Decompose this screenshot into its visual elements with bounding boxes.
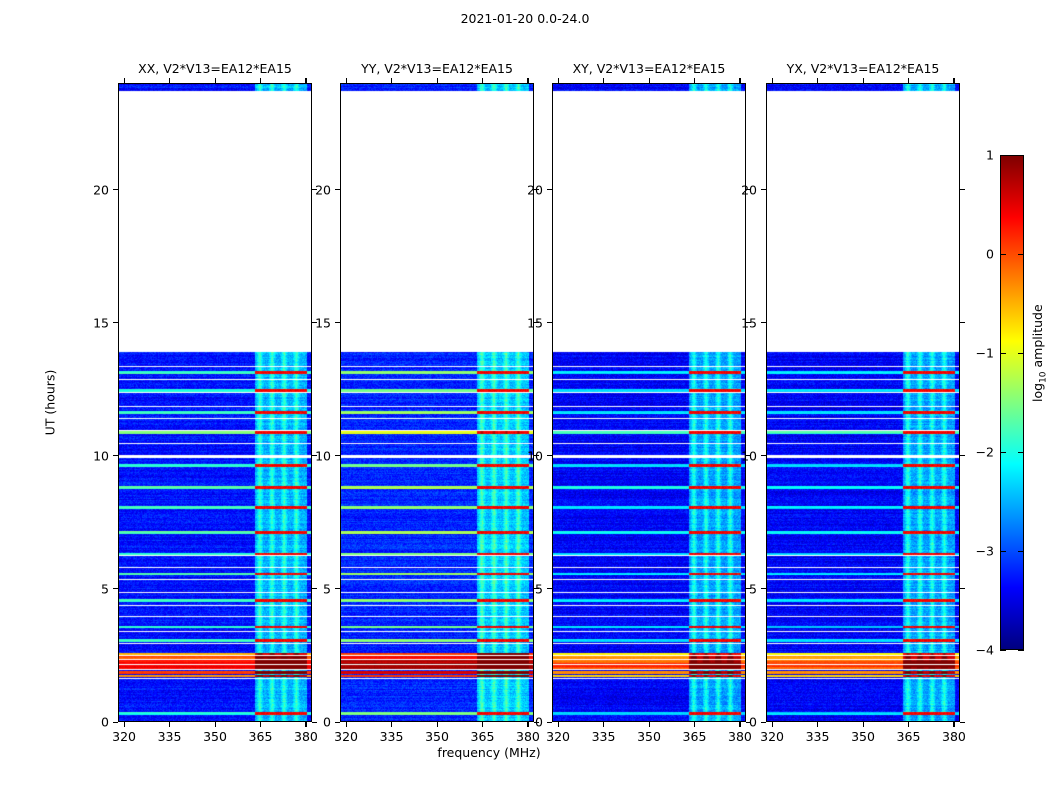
y-axis-tick-label: 20 <box>0 182 757 197</box>
x-axis-tick-label: 320 <box>334 729 358 744</box>
x-axis-tick <box>391 78 392 83</box>
x-axis-tick <box>817 722 818 727</box>
x-axis-tick <box>908 722 909 727</box>
x-axis-tick-label: 380 <box>294 729 318 744</box>
colorbar-tick-label: −4 <box>0 643 994 658</box>
colorbar-tick <box>1000 452 1006 453</box>
colorbar-tick <box>1018 650 1024 651</box>
x-axis-tick-label: 335 <box>380 729 404 744</box>
x-axis-tick-label: 365 <box>897 729 921 744</box>
x-axis-tick-label: 320 <box>546 729 570 744</box>
waterfall-image-xy <box>553 84 746 722</box>
y-axis-tick <box>960 722 965 723</box>
x-axis-label: frequency (MHz) <box>437 745 540 760</box>
colorbar-tick <box>1018 254 1024 255</box>
x-axis-tick-label: 350 <box>425 729 449 744</box>
colorbar-tick <box>1018 551 1024 552</box>
waterfall-image-yy <box>341 84 534 722</box>
x-axis-tick <box>772 722 773 727</box>
colorbar-tick <box>1000 254 1006 255</box>
x-axis-tick <box>649 78 650 83</box>
colorbar-tick-label: 1 <box>0 148 994 163</box>
y-axis-tick-label: 0 <box>0 715 757 730</box>
x-axis-tick-label: 365 <box>471 729 495 744</box>
x-axis-tick-label: 350 <box>851 729 875 744</box>
x-axis-tick <box>694 78 695 83</box>
y-axis-tick <box>960 189 965 190</box>
x-axis-tick <box>739 78 740 83</box>
y-axis-tick <box>761 588 766 589</box>
colorbar-tick-label: −2 <box>0 445 994 460</box>
spectrogram-panel-xx[interactable] <box>118 83 312 722</box>
colorbar-tick-label: −3 <box>0 544 994 559</box>
waterfall-image-yx <box>767 84 960 722</box>
y-axis-tick-label: 15 <box>0 315 757 330</box>
y-axis-tick <box>960 588 965 589</box>
colorbar-tick <box>1018 155 1024 156</box>
y-axis-tick <box>761 322 766 323</box>
x-axis-tick <box>482 78 483 83</box>
colorbar-tick <box>1000 353 1006 354</box>
x-axis-tick <box>603 78 604 83</box>
spectrogram-panel-yx[interactable] <box>766 83 960 722</box>
x-axis-tick <box>863 722 864 727</box>
x-axis-tick-label: 380 <box>942 729 966 744</box>
x-axis-tick-label: 335 <box>592 729 616 744</box>
x-axis-tick-label: 365 <box>249 729 273 744</box>
x-axis-tick <box>817 78 818 83</box>
colorbar-tick <box>1018 353 1024 354</box>
x-axis-tick <box>169 78 170 83</box>
x-axis-tick-label: 350 <box>637 729 661 744</box>
x-axis-tick <box>215 78 216 83</box>
x-axis-tick-label: 335 <box>158 729 182 744</box>
x-axis-tick <box>558 78 559 83</box>
spectrogram-panel-yy[interactable] <box>340 83 534 722</box>
colorbar-tick-label: −1 <box>0 346 994 361</box>
colorbar-label-prefix: log <box>1030 383 1045 402</box>
x-axis-tick-label: 335 <box>806 729 830 744</box>
y-axis-tick-label: 5 <box>0 581 757 596</box>
x-axis-tick <box>953 78 954 83</box>
colorbar[interactable] <box>1000 155 1024 650</box>
x-axis-tick <box>346 78 347 83</box>
x-axis-tick <box>908 78 909 83</box>
y-axis-tick <box>761 189 766 190</box>
x-axis-tick <box>772 78 773 83</box>
x-axis-tick-label: 320 <box>112 729 136 744</box>
x-axis-tick <box>863 78 864 83</box>
x-axis-tick <box>260 78 261 83</box>
waterfall-image-xx <box>119 84 312 722</box>
x-axis-tick <box>124 78 125 83</box>
x-axis-tick-label: 350 <box>203 729 227 744</box>
x-axis-tick-label: 380 <box>516 729 540 744</box>
colorbar-tick <box>1000 155 1006 156</box>
colorbar-tick-label: 0 <box>0 247 994 262</box>
y-axis-tick <box>960 322 965 323</box>
colorbar-axis-label: log10 amplitude <box>1030 304 1049 402</box>
colorbar-label-suffix: amplitude <box>1030 304 1045 371</box>
spectrogram-panel-xy[interactable] <box>552 83 746 722</box>
colorbar-tick <box>1000 650 1006 651</box>
panel-title-yx: YX, V2*V13=EA12*EA15 <box>726 61 1000 76</box>
x-axis-tick <box>305 78 306 83</box>
x-axis-tick <box>953 722 954 727</box>
figure-suptitle: 2021-01-20 0.0-24.0 <box>0 11 1050 26</box>
y-axis-tick <box>761 722 766 723</box>
x-axis-tick <box>527 78 528 83</box>
colorbar-tick <box>1000 551 1006 552</box>
x-axis-tick-label: 365 <box>683 729 707 744</box>
x-axis-tick <box>437 78 438 83</box>
colorbar-tick <box>1018 452 1024 453</box>
colorbar-label-subscript: 10 <box>1039 371 1049 382</box>
x-axis-tick-label: 320 <box>760 729 784 744</box>
x-axis-tick-label: 380 <box>728 729 752 744</box>
